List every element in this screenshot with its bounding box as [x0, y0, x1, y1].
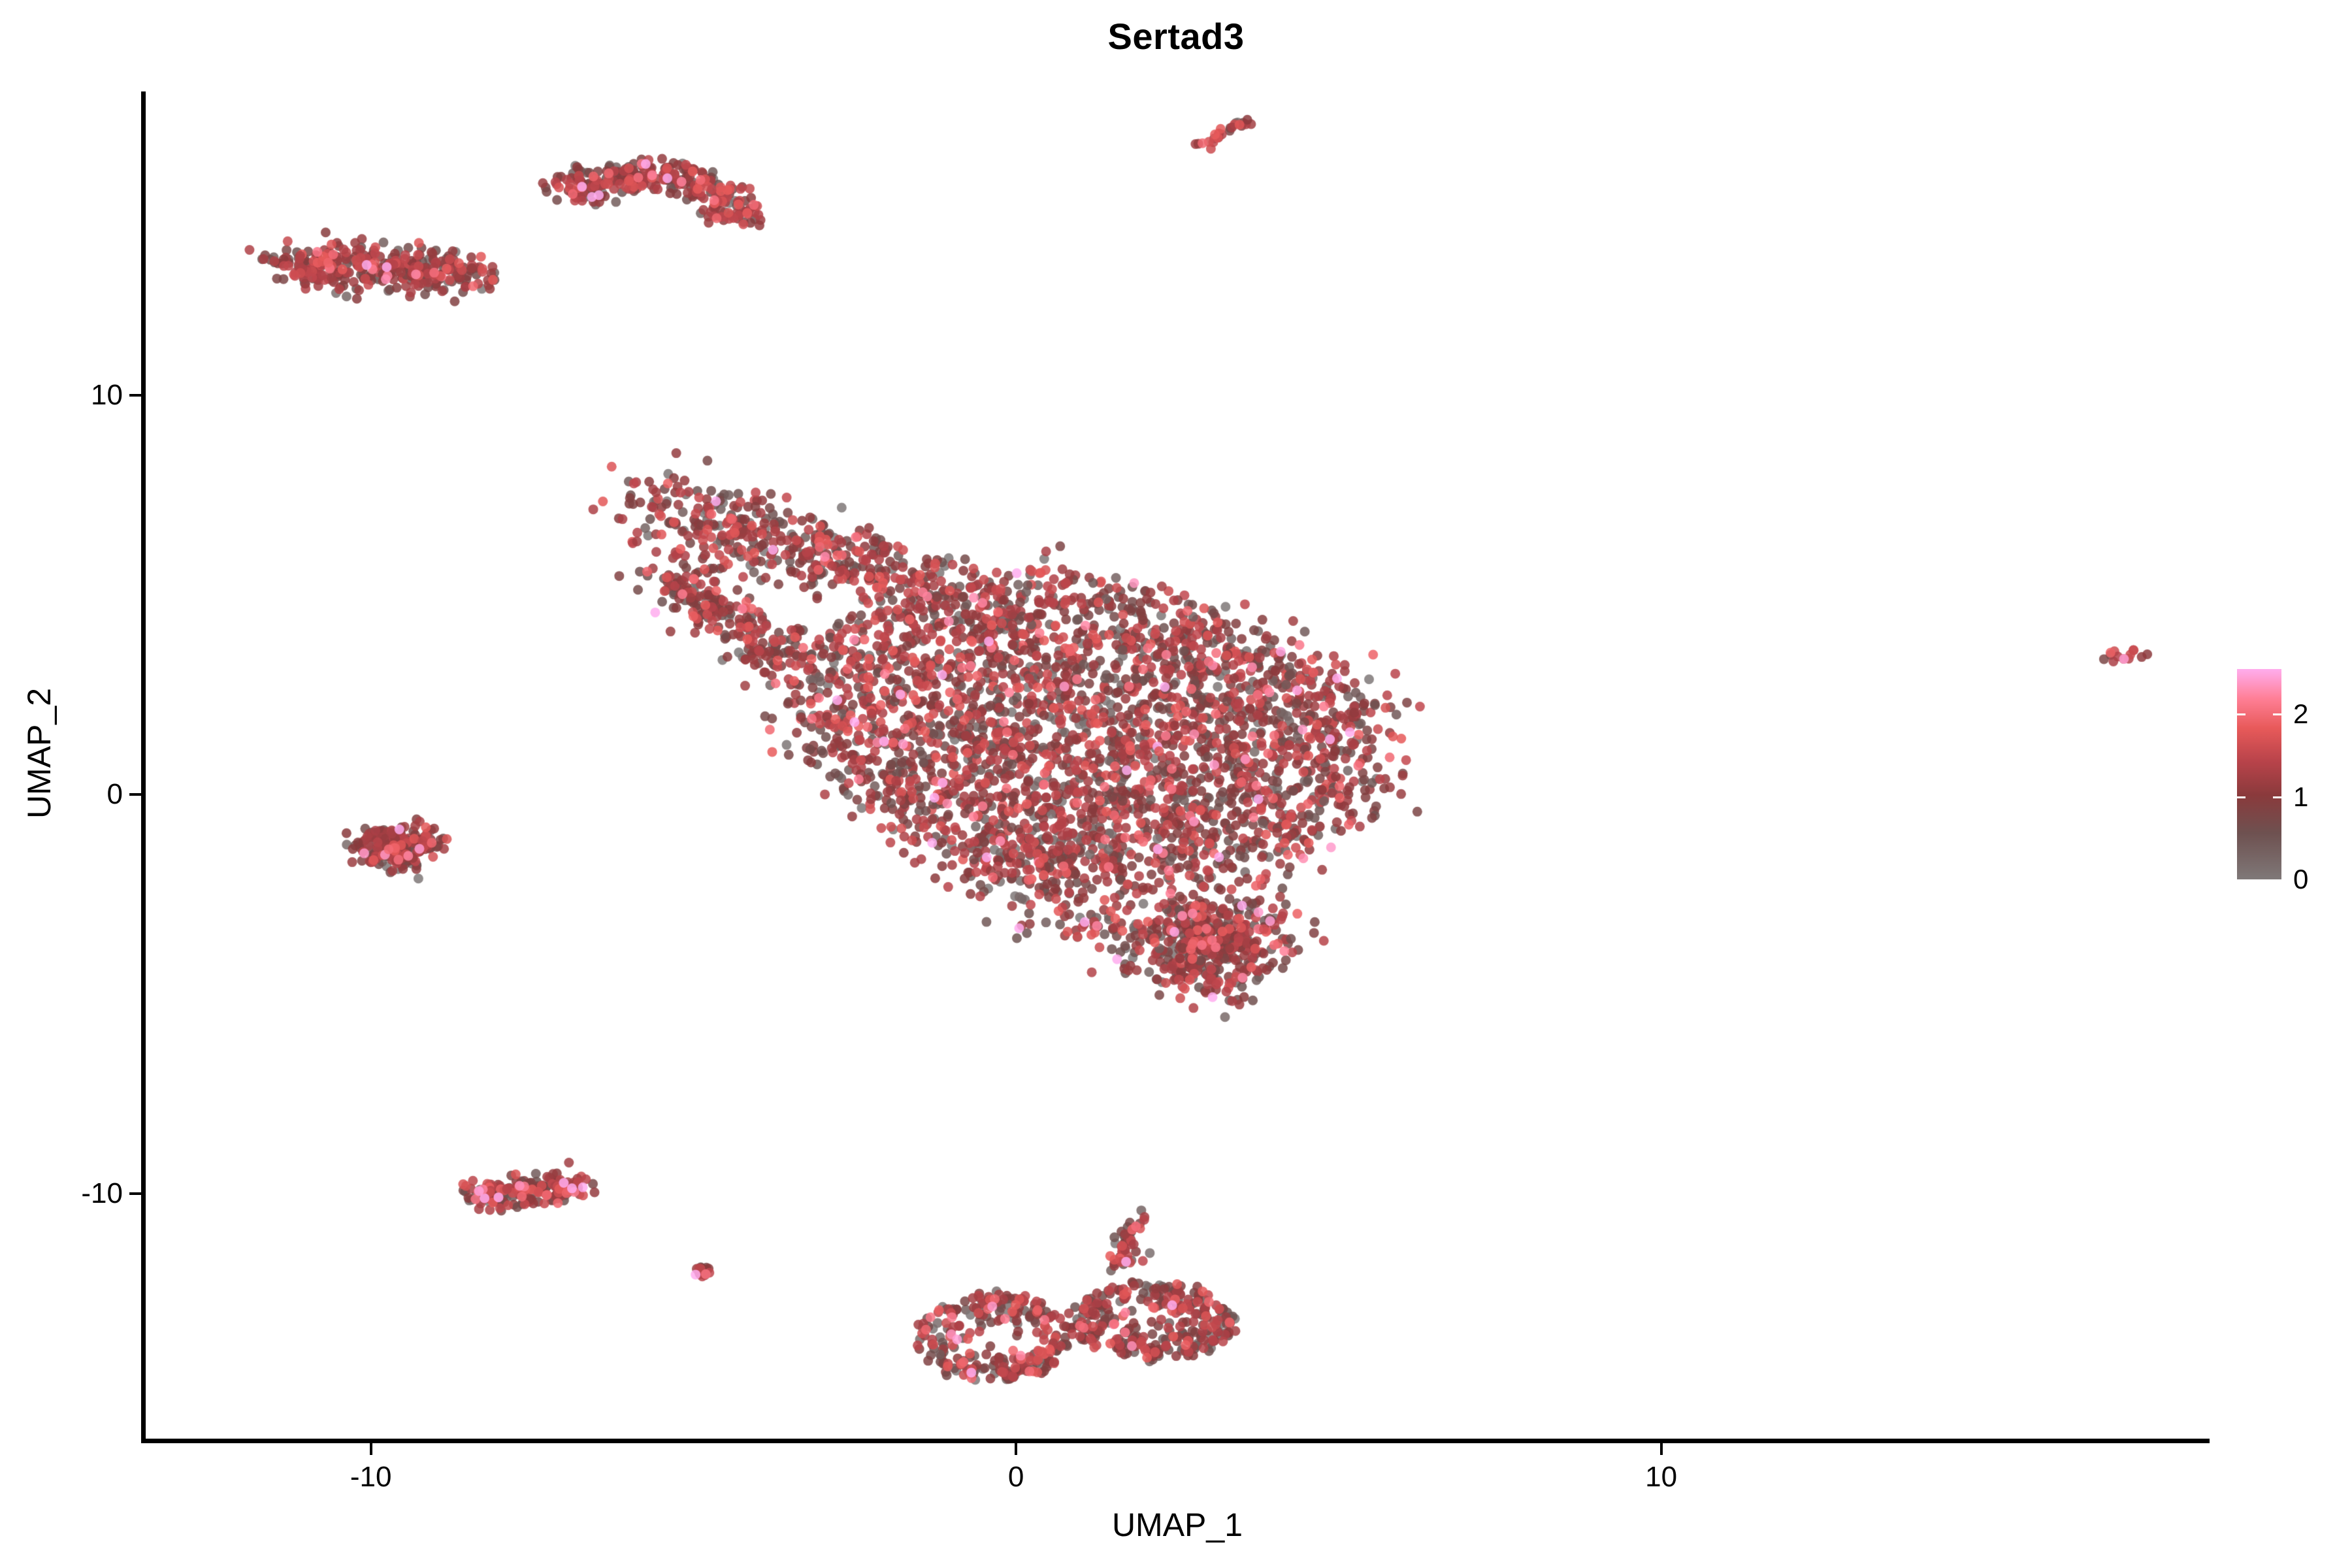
- legend-colorbar: 210: [2237, 669, 2342, 930]
- x-tick-label: 0: [951, 1461, 1081, 1494]
- y-tick-label: -10: [18, 1177, 123, 1210]
- plot-panel: [145, 91, 2210, 1441]
- y-tick-mark: [129, 1192, 141, 1195]
- y-axis-line: [141, 91, 146, 1443]
- x-tick-mark: [1015, 1443, 1017, 1455]
- y-tick-mark: [129, 394, 141, 397]
- colorbar-tick-label: 1: [2293, 782, 2308, 812]
- x-axis-title: UMAP_1: [145, 1507, 2210, 1543]
- colorbar-tick-label: 2: [2293, 699, 2308, 729]
- y-tick-mark: [129, 793, 141, 796]
- x-tick-mark: [370, 1443, 372, 1455]
- x-tick-label: 10: [1596, 1461, 1727, 1494]
- scatter-points-layer: [145, 91, 2210, 1441]
- colorbar-gradient: [2237, 669, 2281, 879]
- y-axis-title: UMAP_2: [21, 557, 57, 949]
- x-tick-label: -10: [306, 1461, 436, 1494]
- y-tick-label: 10: [18, 379, 123, 412]
- colorbar-tick-mark: [2273, 713, 2281, 715]
- page-title: Sertad3: [0, 17, 2352, 56]
- x-tick-mark: [1660, 1443, 1663, 1455]
- umap-feature-plot: Sertad3 100-10 -10010 UMAP_1 UMAP_2 210: [0, 0, 2352, 1568]
- colorbar-tick-label: 0: [2293, 864, 2308, 894]
- x-axis-line: [141, 1439, 2210, 1443]
- colorbar-tick-mark: [2273, 796, 2281, 798]
- colorbar-tick-mark: [2237, 713, 2246, 715]
- colorbar-tick-mark: [2237, 796, 2246, 798]
